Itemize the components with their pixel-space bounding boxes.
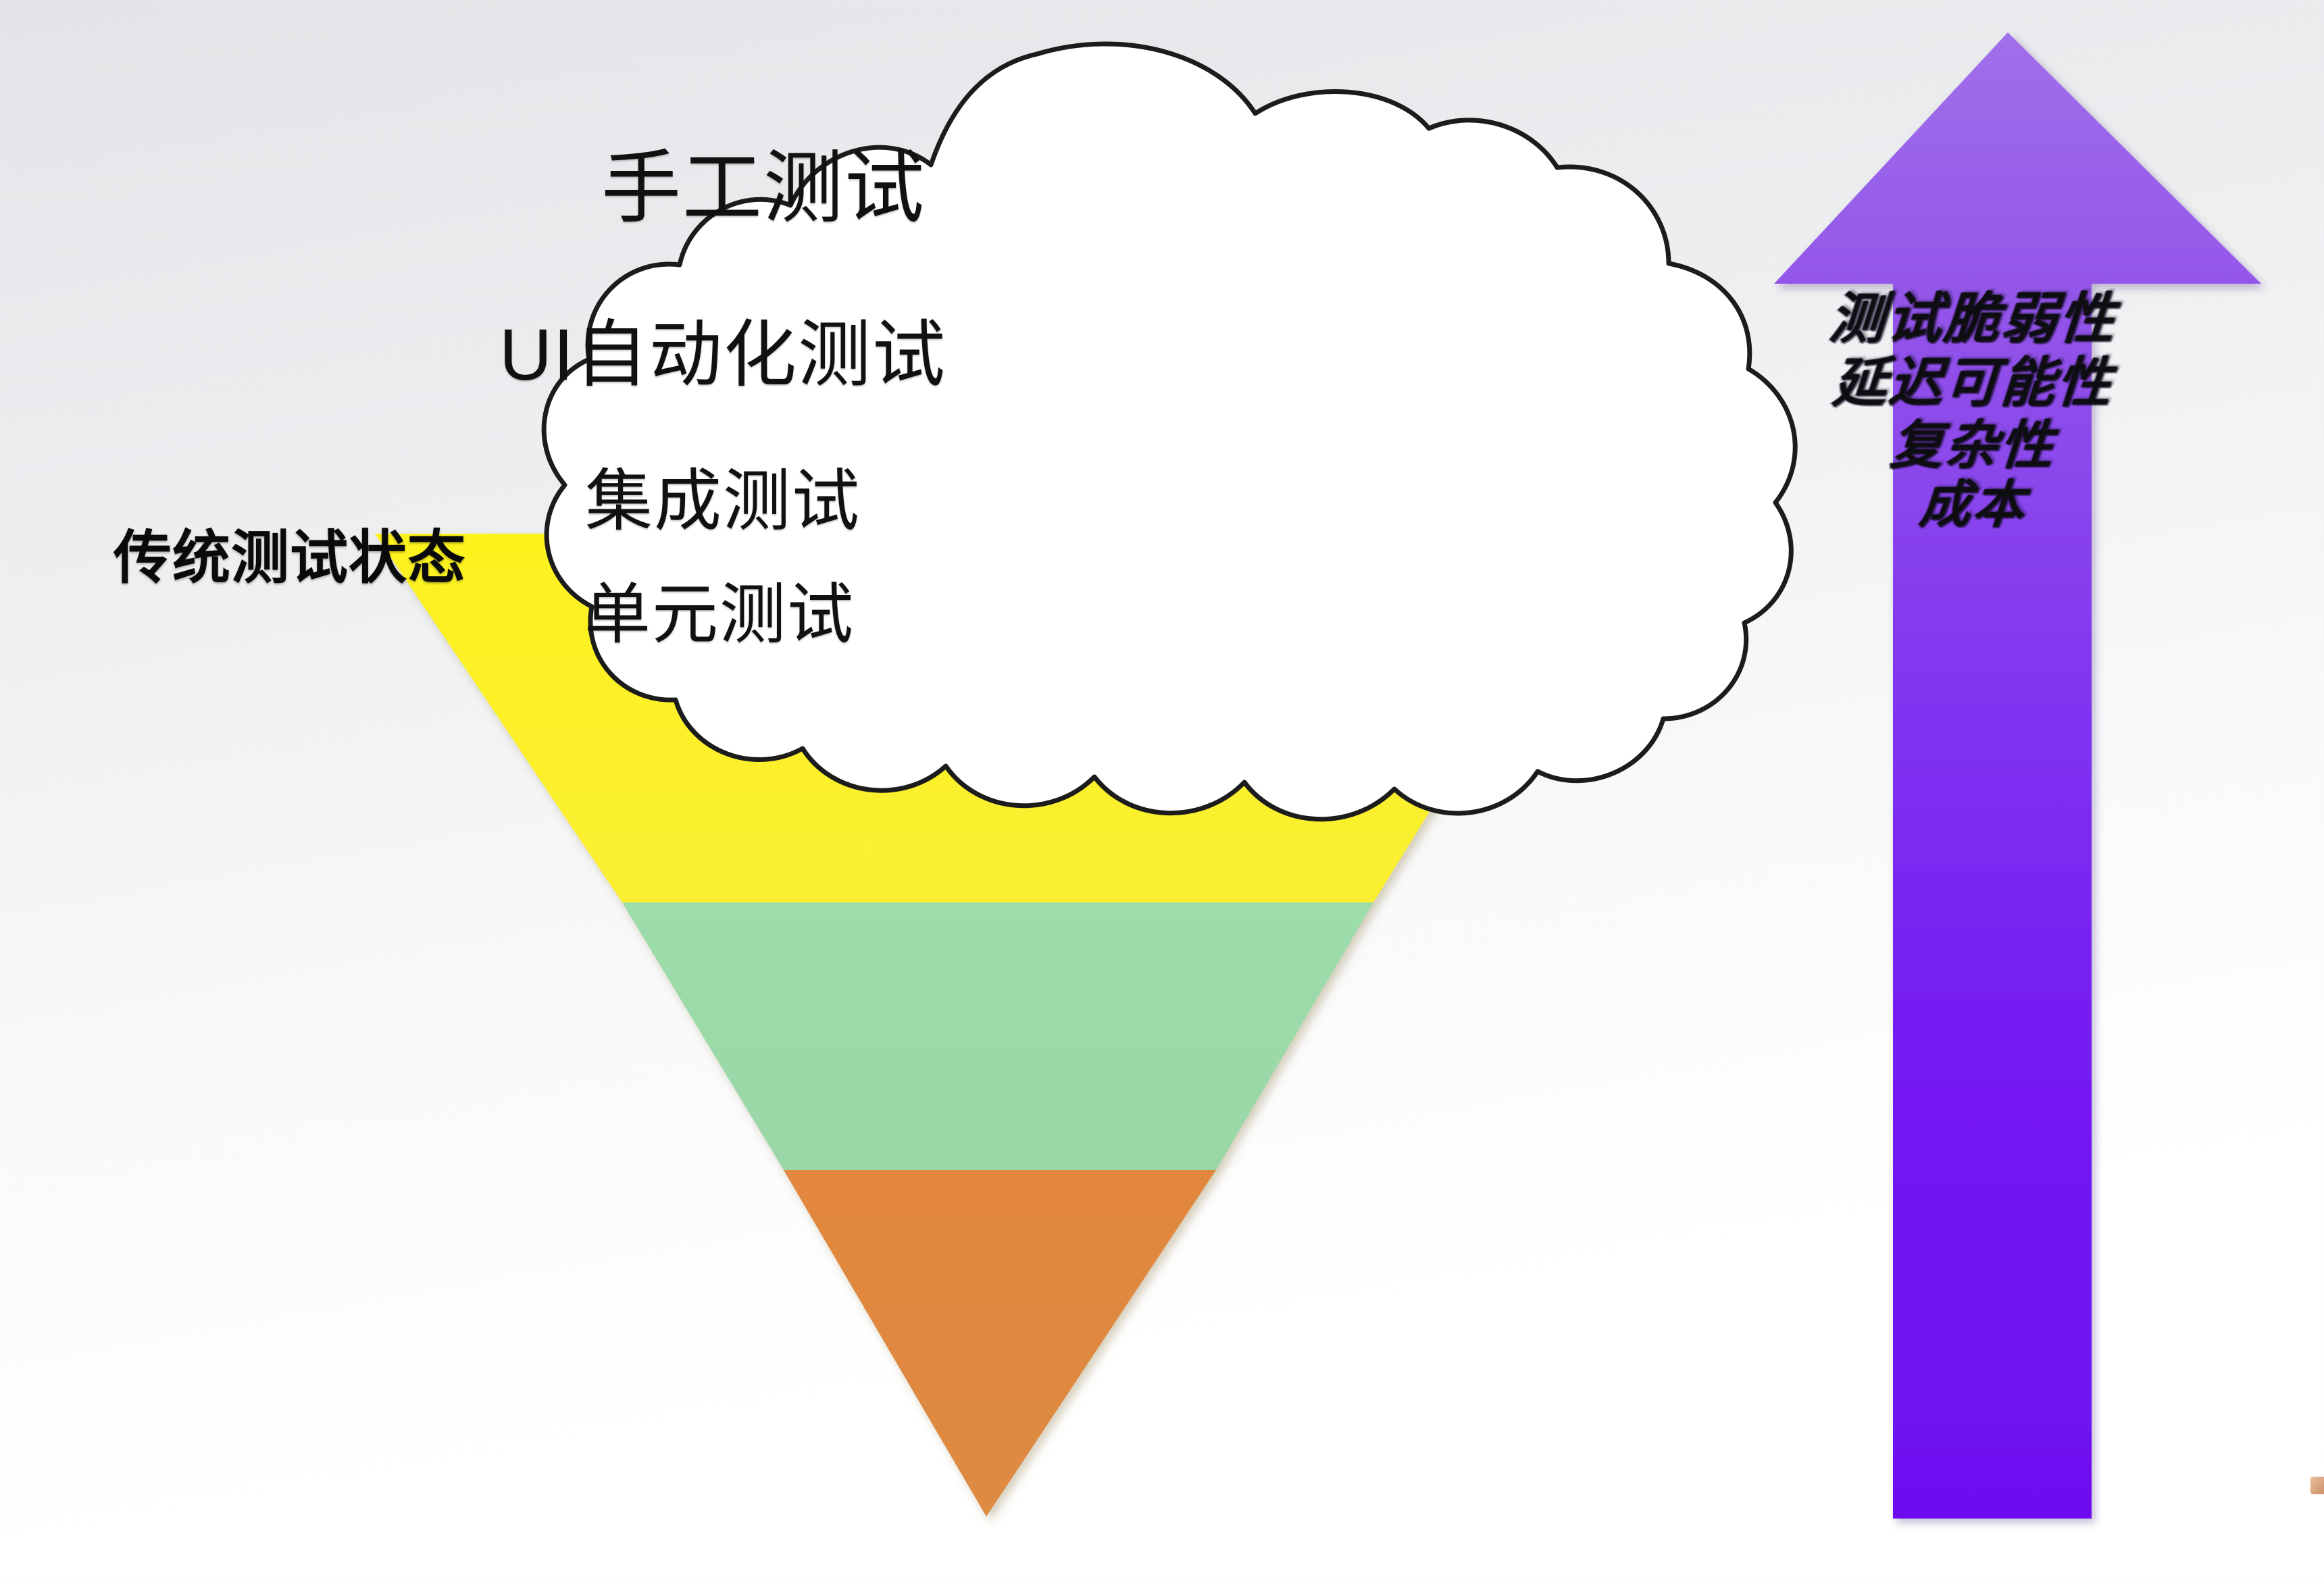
edge-artifact: [2310, 1477, 2324, 1494]
arrow-label-delay: 延迟可能性: [1694, 355, 2252, 412]
arrow-label-fragility: 测试脆弱性: [1694, 290, 2252, 349]
cloud-label: 手工测试: [0, 123, 1527, 238]
pyramid-layer-unit: [784, 1170, 1216, 1517]
diagram-canvas: 手工测试 UI自动化测试 集成测试 单元测试 传统测试状态 测试脆弱性 延迟可能…: [0, 0, 2324, 1578]
arrow-label-complexity: 复杂性: [1694, 417, 2252, 474]
pyramid-layer-integration: [622, 902, 1373, 1170]
legacy-testing-state-label: 传统测试状态: [113, 510, 466, 594]
arrow-label-group: 测试脆弱性 延迟可能性 复杂性 成本: [1696, 290, 2250, 538]
arrow-polygon: [1774, 32, 2261, 1519]
pyramid-label-ui-automation: UI自动化测试: [0, 296, 1446, 401]
arrow-label-cost: 成本: [1694, 478, 2252, 533]
up-arrow: [1774, 32, 2261, 1519]
